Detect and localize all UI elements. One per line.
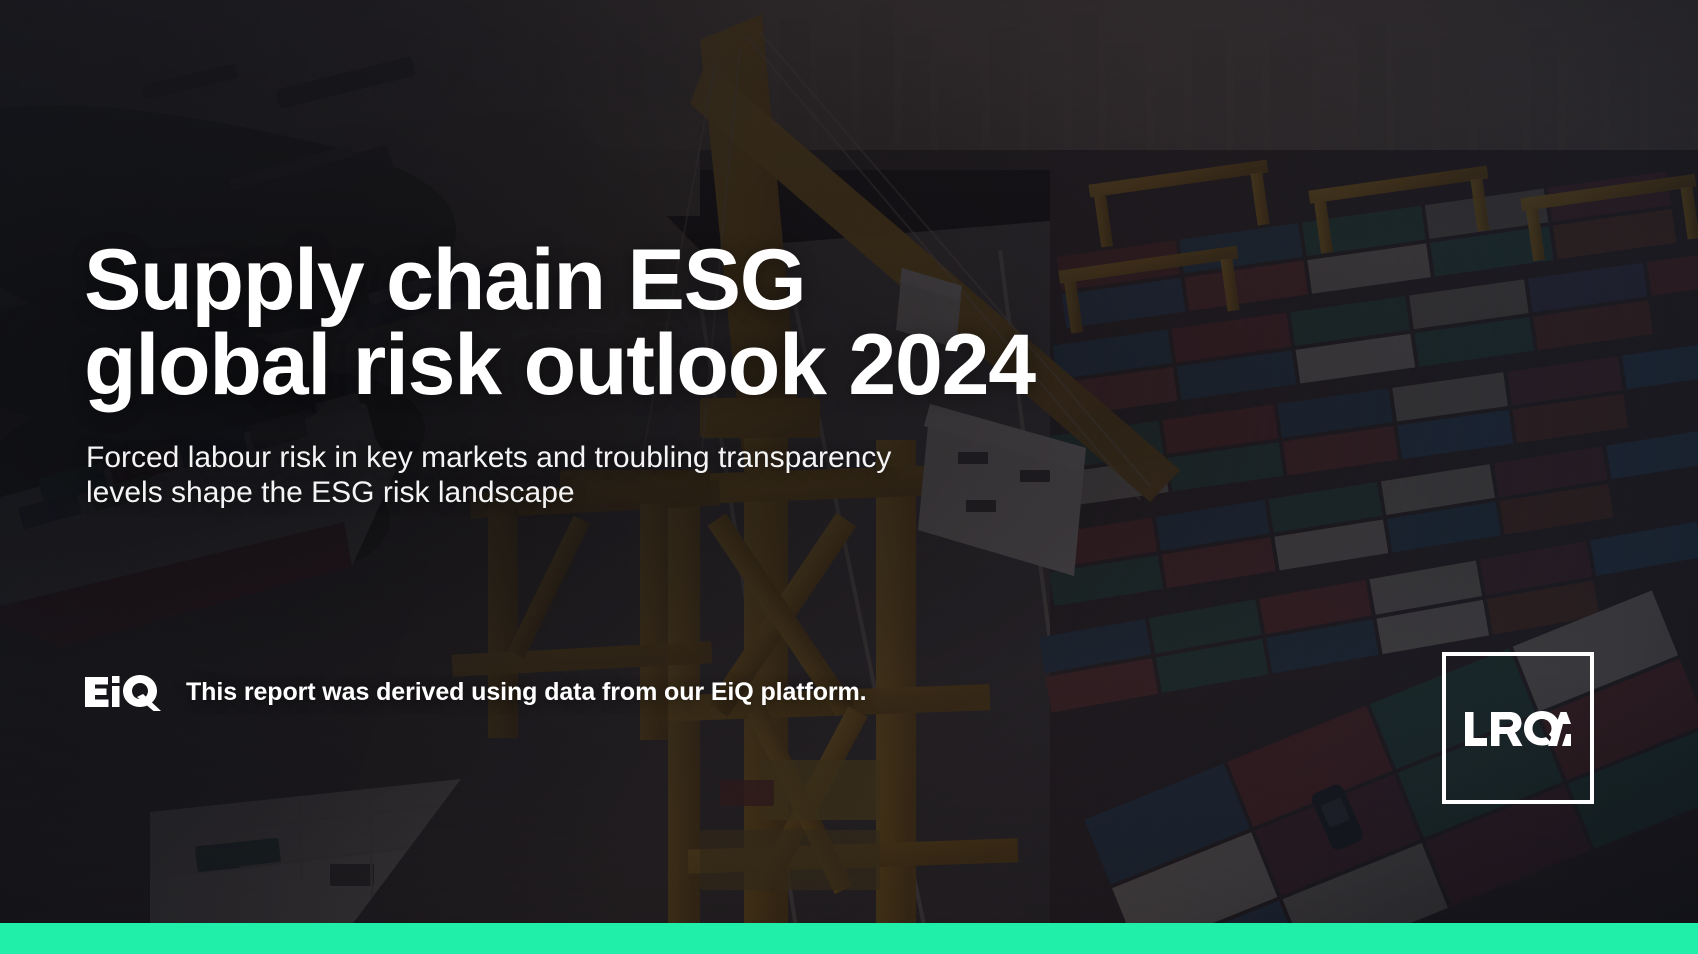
page-title-line-2: global risk outlook 2024 <box>84 323 1084 408</box>
page-title-line-1: Supply chain ESG <box>84 238 1084 323</box>
page-subtitle-line-2: levels shape the ESG risk landscape <box>86 476 906 511</box>
page-subtitle-line-1: Forced labour risk in key markets and tr… <box>86 441 906 476</box>
eiq-logo <box>84 672 162 712</box>
eiq-credit-text: This report was derived using data from … <box>186 678 867 707</box>
bottom-accent-bar <box>0 923 1698 954</box>
report-cover-page: Supply chain ESG global risk outlook 202… <box>0 0 1698 954</box>
page-subtitle: Forced labour risk in key markets and tr… <box>86 441 906 511</box>
lrqa-logo[interactable] <box>1442 652 1594 804</box>
eiq-credit-row: This report was derived using data from … <box>84 672 867 712</box>
page-title: Supply chain ESG global risk outlook 202… <box>84 238 1084 408</box>
